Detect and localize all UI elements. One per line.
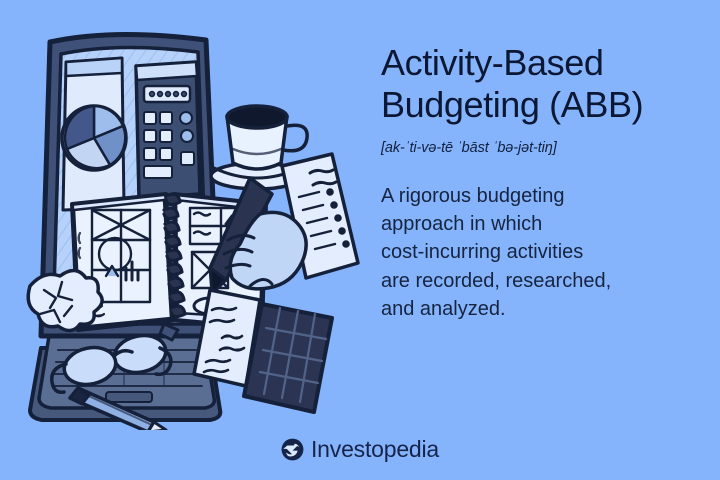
brand-name: Investopedia bbox=[311, 436, 439, 463]
pronunciation-text: [ak-ˈti-və-tē ˈbāst ˈbə-jət-tiŋ] bbox=[381, 140, 703, 156]
infographic-card: Activity-Based Budgeting (ABB) [ak-ˈti-v… bbox=[0, 0, 720, 480]
crumpled-paper-icon bbox=[28, 270, 102, 330]
brand-lockup: Investopedia bbox=[0, 436, 720, 463]
calculator-app-icon bbox=[136, 62, 200, 198]
definition-block: Activity-Based Budgeting (ABB) [ak-ˈti-v… bbox=[381, 42, 703, 323]
investopedia-logo-icon bbox=[281, 438, 304, 461]
term-title: Activity-Based Budgeting (ABB) bbox=[381, 42, 703, 126]
definition-text: A rigorous budgeting approach in which c… bbox=[381, 182, 703, 324]
pie-chart-icon bbox=[62, 58, 126, 210]
desk-scene-illustration bbox=[14, 18, 364, 430]
